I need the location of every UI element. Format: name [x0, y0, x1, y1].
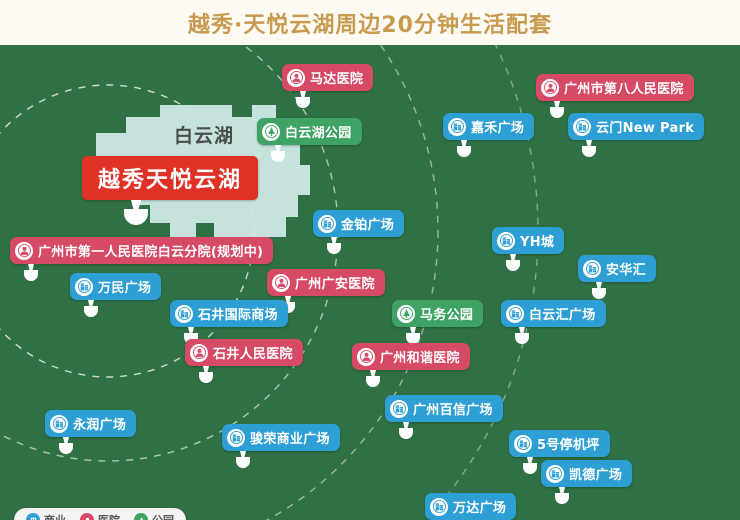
poi-marker[interactable]: 安华汇	[578, 255, 656, 282]
hospital-icon	[357, 348, 375, 366]
poi-bubble[interactable]: 白云汇广场	[501, 300, 606, 327]
poi-bubble[interactable]: 广州百信广场	[385, 395, 503, 422]
hospital-icon	[287, 69, 305, 87]
poi-marker[interactable]: 万民广场	[70, 273, 161, 300]
building-icon	[318, 215, 336, 233]
poi-bubble[interactable]: 马务公园	[392, 300, 483, 327]
poi-label: 马达医院	[310, 68, 363, 87]
poi-label: 嘉禾广场	[471, 117, 524, 136]
poi-label: 广州和谐医院	[380, 347, 460, 366]
poi-marker[interactable]: 永润广场	[45, 410, 136, 437]
building-icon	[390, 400, 408, 418]
poi-bubble[interactable]: 万民广场	[70, 273, 161, 300]
building-icon	[175, 305, 193, 323]
poi-label: 凯德广场	[569, 464, 622, 483]
legend-label-hospital: 医院	[98, 512, 120, 520]
poi-bubble[interactable]: 万达广场	[425, 493, 516, 520]
poi-bubble[interactable]: 广州市第八人民医院	[536, 74, 694, 101]
poi-label: 马务公园	[420, 304, 473, 323]
building-icon	[583, 260, 601, 278]
building-icon	[430, 498, 448, 516]
poi-label: 广州市第八人民医院	[564, 78, 684, 97]
poi-marker[interactable]: 马达医院	[282, 64, 373, 91]
poi-label: 金铂广场	[341, 214, 394, 233]
hospital-icon	[272, 274, 290, 292]
hospital-icon	[15, 242, 33, 260]
hospital-icon	[541, 79, 559, 97]
poi-bubble[interactable]: 广州广安医院	[267, 269, 385, 296]
poi-marker[interactable]: 石井国际商场	[170, 300, 288, 327]
project-bubble[interactable]: 越秀天悦云湖	[82, 156, 258, 200]
poi-marker[interactable]: 广州和谐医院	[352, 343, 470, 370]
building-icon	[26, 513, 40, 520]
building-icon	[50, 415, 68, 433]
poi-label: 万达广场	[453, 497, 506, 516]
poi-bubble[interactable]: YH城	[492, 227, 564, 254]
poi-label: 广州市第一人民医院白云分院(规划中)	[38, 241, 263, 260]
poi-label: 永润广场	[73, 414, 126, 433]
poi-bubble[interactable]: 石井人民医院	[185, 339, 303, 366]
poi-label: 万民广场	[98, 277, 151, 296]
poi-bubble[interactable]: 安华汇	[578, 255, 656, 282]
poi-bubble[interactable]: 白云湖公园	[257, 118, 362, 145]
poi-marker[interactable]: 石井人民医院	[185, 339, 303, 366]
poi-bubble[interactable]: 广州市第一人民医院白云分院(规划中)	[10, 237, 273, 264]
poi-marker[interactable]: 骏荣商业广场	[222, 424, 340, 451]
hospital-icon	[80, 513, 94, 520]
poi-marker[interactable]: YH城	[492, 227, 564, 254]
project-label: 越秀天悦云湖	[98, 162, 242, 194]
poi-marker[interactable]: 凯德广场	[541, 460, 632, 487]
poi-label: 石井人民医院	[213, 343, 293, 362]
project-marker[interactable]: 越秀天悦云湖	[82, 156, 258, 200]
poi-marker[interactable]: 嘉禾广场	[443, 113, 534, 140]
legend-item-commercial: 商业	[26, 512, 66, 520]
poi-label: 骏荣商业广场	[250, 428, 330, 447]
poi-label: 石井国际商场	[198, 304, 278, 323]
building-icon	[514, 435, 532, 453]
tree-icon	[262, 123, 280, 141]
poi-bubble[interactable]: 骏荣商业广场	[222, 424, 340, 451]
lake-name-label: 白云湖	[174, 121, 234, 148]
tree-icon	[397, 305, 415, 323]
tree-icon	[134, 513, 148, 520]
building-icon	[497, 232, 515, 250]
poi-label: 广州广安医院	[295, 273, 375, 292]
building-icon	[448, 118, 466, 136]
poi-marker[interactable]: 云门New Park	[568, 113, 704, 140]
poi-bubble[interactable]: 金铂广场	[313, 210, 404, 237]
legend-item-park: 公园	[134, 512, 174, 520]
poi-bubble[interactable]: 广州和谐医院	[352, 343, 470, 370]
poi-label: 广州百信广场	[413, 399, 493, 418]
poi-bubble[interactable]: 凯德广场	[541, 460, 632, 487]
poi-marker[interactable]: 广州市第八人民医院	[536, 74, 694, 101]
poi-marker[interactable]: 广州市第一人民医院白云分院(规划中)	[10, 237, 273, 264]
poi-marker[interactable]: 广州百信广场	[385, 395, 503, 422]
poi-marker[interactable]: 马务公园	[392, 300, 483, 327]
poi-label: YH城	[520, 231, 554, 250]
poi-marker[interactable]: 白云湖公园	[257, 118, 362, 145]
legend-label-park: 公园	[152, 512, 174, 520]
building-icon	[227, 429, 245, 447]
poi-bubble[interactable]: 马达医院	[282, 64, 373, 91]
legend-item-hospital: 医院	[80, 512, 120, 520]
legend-label-commercial: 商业	[44, 512, 66, 520]
building-icon	[75, 278, 93, 296]
hospital-icon	[190, 344, 208, 362]
poi-marker[interactable]: 万达广场	[425, 493, 516, 520]
poi-marker[interactable]: 白云汇广场	[501, 300, 606, 327]
building-icon	[506, 305, 524, 323]
building-icon	[573, 118, 591, 136]
poi-bubble[interactable]: 5号停机坪	[509, 430, 610, 457]
page-title: 越秀·天悦云湖周边20分钟生活配套	[188, 7, 552, 39]
poi-label: 白云汇广场	[529, 304, 596, 323]
poi-bubble[interactable]: 永润广场	[45, 410, 136, 437]
title-bar: 越秀·天悦云湖周边20分钟生活配套	[0, 0, 740, 45]
map-canvas: 白云湖 马达医院广州市第八人民医院白云湖公园嘉禾广场云门New Park金铂广场…	[0, 45, 740, 520]
building-icon	[546, 465, 564, 483]
poi-bubble[interactable]: 石井国际商场	[170, 300, 288, 327]
poi-label: 云门New Park	[596, 117, 694, 136]
poi-bubble[interactable]: 嘉禾广场	[443, 113, 534, 140]
infographic-root: 越秀·天悦云湖周边20分钟生活配套 白云湖 马达医院广州市第八人民医院白云湖公园…	[0, 0, 740, 520]
poi-bubble[interactable]: 云门New Park	[568, 113, 704, 140]
poi-marker[interactable]: 金铂广场	[313, 210, 404, 237]
poi-marker[interactable]: 广州广安医院	[267, 269, 385, 296]
legend: 商业 医院 公园	[14, 508, 186, 520]
poi-label: 白云湖公园	[285, 122, 352, 141]
poi-label: 安华汇	[606, 259, 646, 278]
poi-label: 5号停机坪	[537, 434, 600, 453]
poi-marker[interactable]: 5号停机坪	[509, 430, 610, 457]
